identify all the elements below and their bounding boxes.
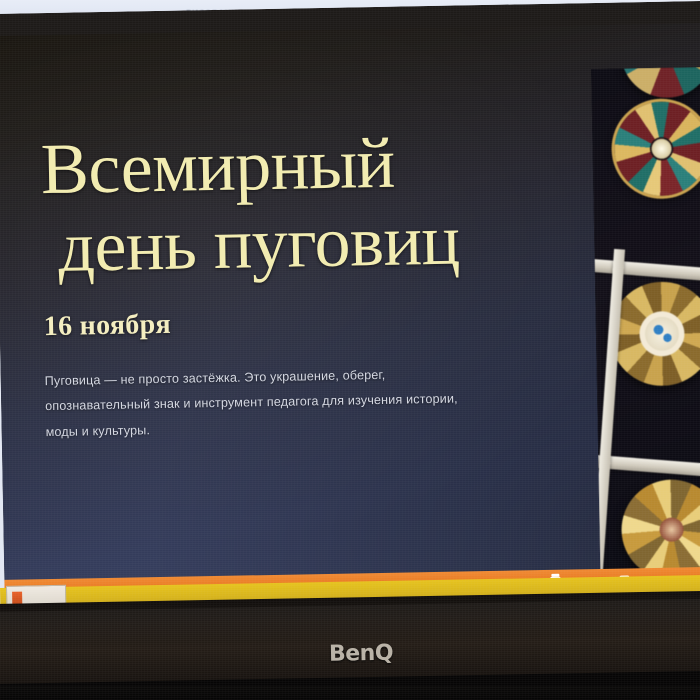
monitor-brand-logo: BenQ bbox=[329, 641, 394, 667]
slide-date: 16 ноября bbox=[43, 301, 583, 343]
slide-title-line-1: Всемирный bbox=[40, 125, 581, 205]
desk-surface bbox=[0, 686, 700, 700]
slide-title-line-2: день пуговиц bbox=[42, 203, 583, 283]
photograph-of-monitor: РИСОВАНИЕ РЕЦЕНЗИРОВАНИЕ ВИД bbox=[0, 0, 700, 700]
bezel-sheen bbox=[0, 599, 700, 646]
image-blur-overlay bbox=[591, 67, 700, 583]
slide-canvas[interactable]: Всемирный день пуговиц 16 ноября Пуговиц… bbox=[0, 23, 700, 602]
monitor-screen: Всемирный день пуговиц 16 ноября Пуговиц… bbox=[0, 1, 700, 602]
screen-surface: Всемирный день пуговиц 16 ноября Пуговиц… bbox=[0, 1, 700, 602]
slide-text-block: Всемирный день пуговиц 16 ноября Пуговиц… bbox=[40, 125, 586, 446]
slide-image-buttons-collection[interactable] bbox=[591, 67, 700, 583]
slide-body-text: Пуговица — не просто застёжка. Это украш… bbox=[45, 360, 516, 446]
